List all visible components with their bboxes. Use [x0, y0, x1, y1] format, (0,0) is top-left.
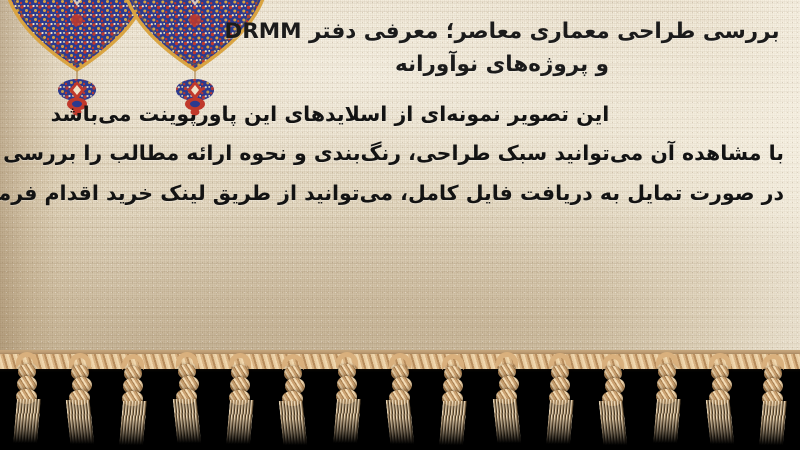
fringe-tassel: [387, 353, 413, 449]
presentation-slide: بررسی طراحی معماری معاصر؛ معرفی دفتر DRM…: [0, 0, 800, 450]
slide-body-text: این تصویر نمونه‌ای از اسلایدهای این پاور…: [16, 104, 784, 204]
tassel-row: [0, 350, 800, 450]
fringe-tassel: [654, 352, 680, 448]
carpet-fringe-border: [0, 350, 800, 450]
body-line-3: در صورت تمایل به دریافت فایل کامل، می‌تو…: [16, 183, 784, 204]
fringe-tassel: [280, 354, 306, 450]
fringe-tassel: [707, 353, 733, 449]
fringe-tassel: [494, 352, 520, 448]
fringe-tassel: [334, 352, 360, 448]
fringe-tassel: [120, 354, 146, 450]
body-line-2: با مشاهده آن می‌توانید سبک طراحی، رنگ‌بن…: [16, 143, 784, 164]
fringe-tassel: [14, 352, 40, 448]
body-line-1: این تصویر نمونه‌ای از اسلایدهای این پاور…: [16, 104, 784, 125]
slide-title: بررسی طراحی معماری معاصر؛ معرفی دفتر DRM…: [222, 16, 782, 81]
fringe-tassel: [760, 354, 786, 450]
fringe-tassel: [67, 353, 93, 449]
fringe-tassel: [440, 354, 466, 450]
fringe-tassel: [600, 354, 626, 450]
fringe-tassel: [174, 352, 200, 448]
fringe-tassel: [227, 353, 253, 449]
fringe-tassel: [547, 353, 573, 449]
